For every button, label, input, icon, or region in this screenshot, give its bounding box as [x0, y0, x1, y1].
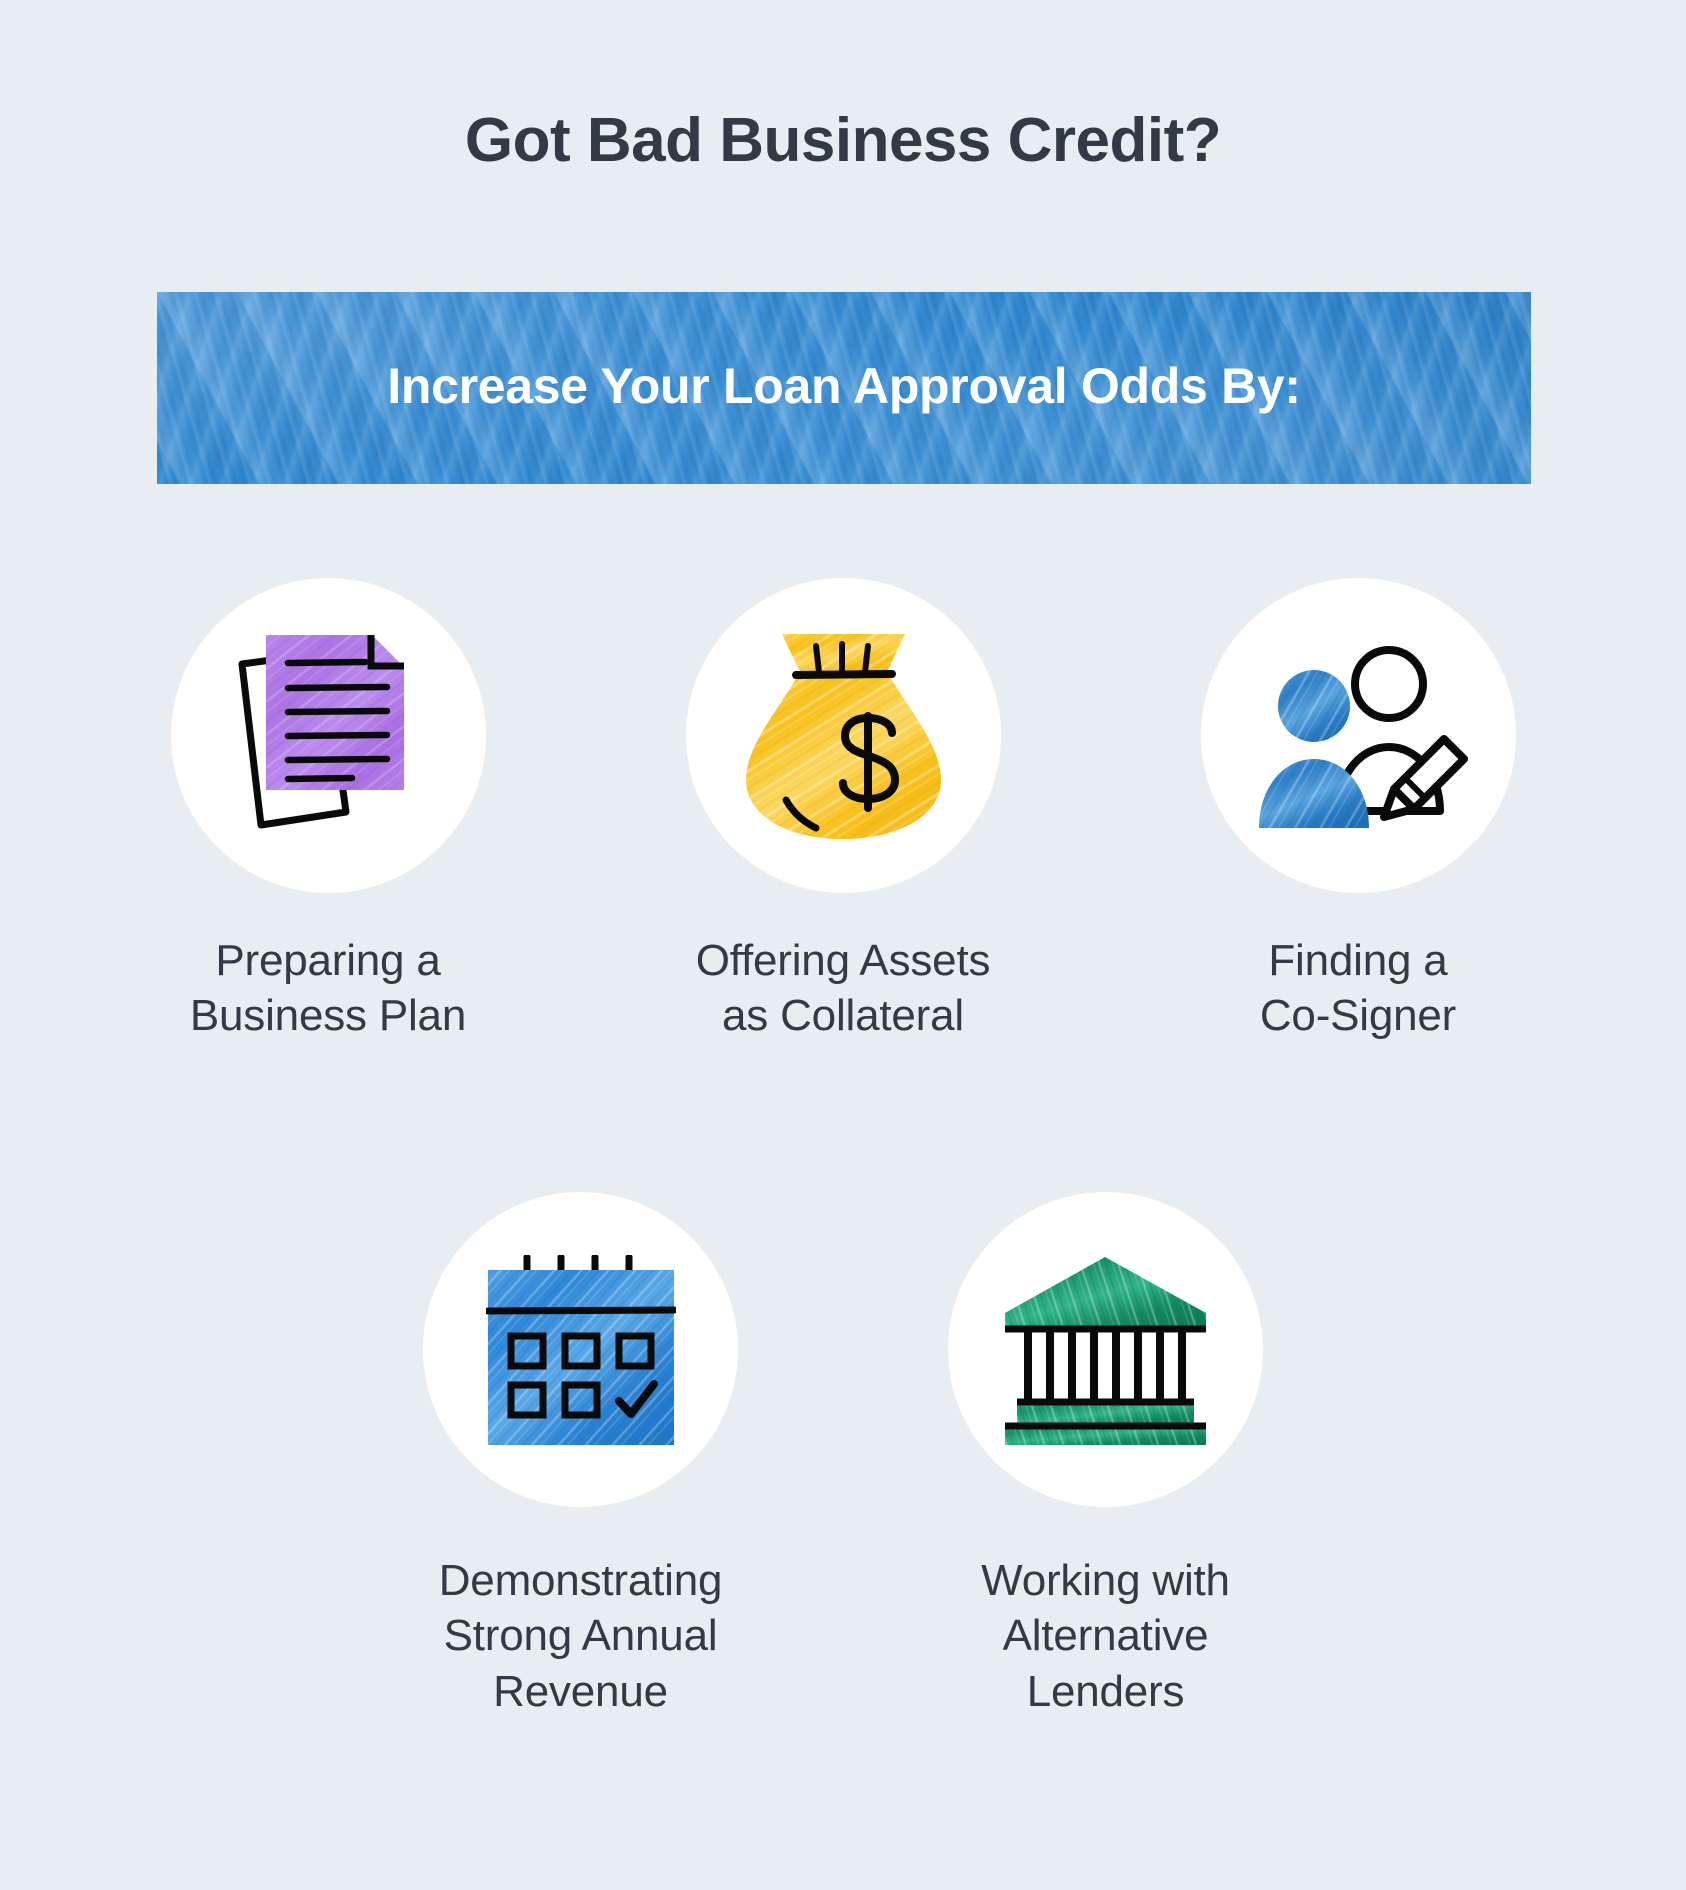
bank-building-icon: [1003, 1255, 1208, 1445]
page-title: Got Bad Business Credit?: [0, 107, 1686, 175]
infographic-root: Got Bad Business Credit? Increase Your L…: [0, 0, 1686, 1890]
card-label: Demonstrating Strong Annual Revenue: [439, 1553, 723, 1719]
card-preparing-business-plan[interactable]: Preparing a Business Plan: [171, 578, 486, 1044]
card-working-with-alternative-lenders[interactable]: Working with Alternative Lenders: [948, 1192, 1263, 1719]
co-signer-people-pencil-icon: [1248, 643, 1468, 828]
card-label: Offering Assets as Collateral: [696, 933, 991, 1044]
card-label: Finding a Co-Signer: [1260, 933, 1456, 1044]
money-bag-icon: [746, 628, 941, 843]
card-demonstrating-strong-annual-revenue[interactable]: Demonstrating Strong Annual Revenue: [423, 1192, 738, 1719]
icon-circle: [1201, 578, 1516, 893]
banner-heading: Increase Your Loan Approval Odds By:: [157, 292, 1531, 484]
card-row-bottom: Demonstrating Strong Annual Revenue: [0, 1192, 1686, 1719]
document-stack-icon: [228, 631, 428, 841]
icon-circle: [171, 578, 486, 893]
card-label: Preparing a Business Plan: [190, 933, 466, 1044]
card-offering-assets-collateral[interactable]: Offering Assets as Collateral: [686, 578, 1001, 1044]
icon-circle: [423, 1192, 738, 1507]
card-label: Working with Alternative Lenders: [981, 1553, 1230, 1719]
card-finding-co-signer[interactable]: Finding a Co-Signer: [1201, 578, 1516, 1044]
icon-circle: [686, 578, 1001, 893]
card-row-top: Preparing a Business Plan: [0, 578, 1686, 1044]
icon-circle: [948, 1192, 1263, 1507]
calendar-icon: [486, 1255, 676, 1445]
banner: Increase Your Loan Approval Odds By:: [157, 292, 1531, 484]
